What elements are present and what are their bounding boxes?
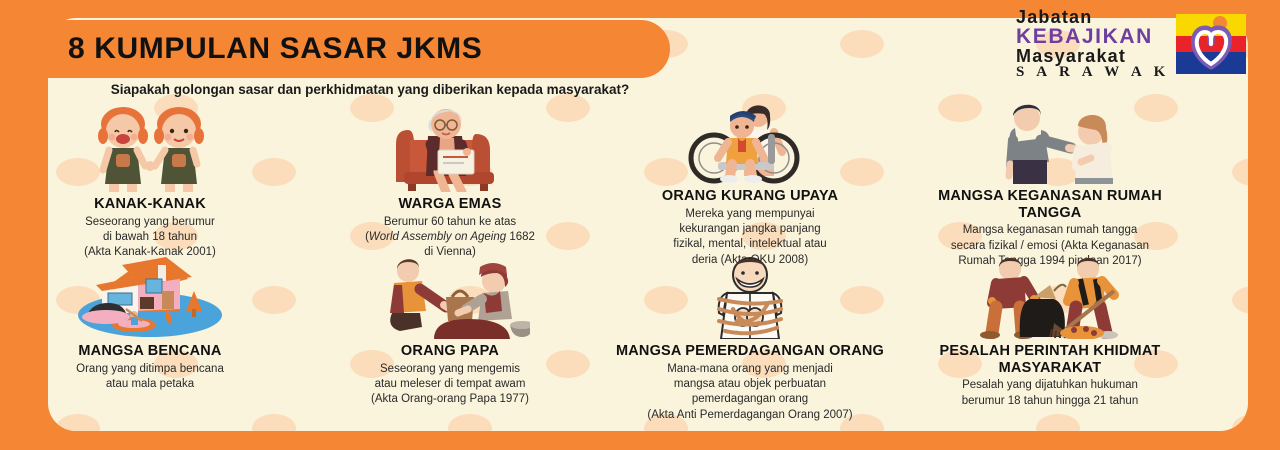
infographic-poster: 8 KUMPULAN SASAR JKMS Jabatan KEBAJIKAN … — [0, 0, 1280, 450]
card-description: Seseorang yang mengemis atau meleser di … — [371, 362, 529, 408]
community-service-icon — [970, 255, 1130, 339]
desc-line: atau meleser di tempat awam — [371, 377, 529, 392]
desc-line: Orang yang ditimpa bencana — [76, 362, 224, 377]
card-description: Seseorang yang berumur di bawah 18 tahun… — [84, 215, 216, 261]
desc-line: Mangsa keganasan rumah tangga — [951, 223, 1149, 238]
logo-line-jabatan: Jabatan — [1016, 8, 1170, 26]
desc-line: Pesalah yang dijatuhkan hukuman — [962, 378, 1138, 393]
desc-line: (World Assembly on Ageing 1682 — [365, 230, 535, 245]
desc-line: atau mala petaka — [76, 377, 224, 392]
card-orang-kurang-upaya: ORANG KURANG UPAYA Mereka yang mempunyai… — [600, 100, 900, 265]
card-title: ORANG PAPA — [401, 343, 499, 360]
card-title: WARGA EMAS — [399, 196, 502, 213]
card-orang-papa: ORANG PAPA Seseorang yang mengemis atau … — [300, 255, 600, 413]
desc-line: pemerdagangan orang — [647, 392, 852, 407]
desc-line: Seseorang yang berumur — [84, 215, 216, 230]
card-row-bottom: MANGSA BENCANA Orang yang ditimpa bencan… — [0, 255, 1200, 413]
desc-line: kekurangan jangka panjang — [673, 222, 826, 237]
card-mangsa-bencana: MANGSA BENCANA Orang yang ditimpa bencan… — [0, 255, 300, 413]
logo-wordmark: Jabatan KEBAJIKAN Masyarakat S A R A W A… — [1016, 8, 1170, 80]
page-subtitle: Siapakah golongan sasar dan perkhidmatan… — [60, 80, 680, 100]
desc-italic: World Assembly on Ageing — [369, 231, 506, 243]
card-kanak-kanak: KANAK-KANAK Seseorang yang berumur di ba… — [0, 100, 300, 265]
card-description: Orang yang ditimpa bencana atau mala pet… — [76, 362, 224, 393]
flooded-house-icon — [70, 255, 230, 339]
card-title: KANAK-KANAK — [94, 196, 206, 213]
card-description: Berumur 60 tahun ke atas (World Assembly… — [365, 215, 535, 261]
two-children-icon — [75, 100, 225, 192]
wheelchair-user-icon — [686, 100, 814, 184]
card-mangsa-pemerdagangan-orang: MANGSA PEMERDAGANGAN ORANG Mana-mana ora… — [600, 255, 900, 413]
card-title: PESALAH PERINTAH KHIDMAT MASYARAKAT — [908, 343, 1192, 376]
desc-line: fizikal, mental, intelektual atau — [673, 237, 826, 252]
bound-person-icon — [685, 255, 815, 339]
desc-line: mangsa atau objek perbuatan — [647, 377, 852, 392]
card-description: Mana-mana orang yang menjadi mangsa atau… — [647, 362, 852, 423]
card-title: MANGSA PEMERDAGANGAN ORANG — [616, 343, 884, 360]
homeless-aid-icon — [370, 255, 530, 339]
card-warga-emas: WARGA EMAS Berumur 60 tahun ke atas (Wor… — [300, 100, 600, 265]
desc-line: (Akta Anti Pemerdagangan Orang 2007) — [647, 408, 852, 423]
card-description: Pesalah yang dijatuhkan hukuman berumur … — [962, 378, 1138, 409]
card-title: MANGSA KEGANASAN RUMAH TANGGA — [908, 188, 1192, 221]
title-banner: 8 KUMPULAN SASAR JKMS — [0, 20, 670, 78]
logo-line-kebajikan: KEBAJIKAN — [1016, 26, 1170, 47]
desc-line: di bawah 18 tahun — [84, 230, 216, 245]
page-title: 8 KUMPULAN SASAR JKMS — [68, 32, 482, 66]
elderly-woman-armchair-icon — [380, 100, 520, 192]
desc-line: (Akta Orang-orang Papa 1977) — [371, 392, 529, 407]
card-mangsa-keganasan-rumah-tangga: MANGSA KEGANASAN RUMAH TANGGA Mangsa keg… — [900, 100, 1200, 265]
desc-line: Seseorang yang mengemis — [371, 362, 529, 377]
card-title: MANGSA BENCANA — [78, 343, 221, 360]
desc-line: Mereka yang mempunyai — [673, 207, 826, 222]
desc-line: Mana-mana orang yang menjadi — [647, 362, 852, 377]
card-row-top: KANAK-KANAK Seseorang yang berumur di ba… — [0, 100, 1200, 265]
domestic-violence-icon — [975, 100, 1125, 184]
jkm-sarawak-logo: Jabatan KEBAJIKAN Masyarakat S A R A W A… — [1016, 8, 1266, 80]
card-pesalah-perintah-khidmat-masyarakat: PESALAH PERINTAH KHIDMAT MASYARAKAT Pesa… — [900, 255, 1200, 413]
heart-emblem-icon — [1174, 12, 1248, 76]
desc-line: secara fizikal / emosi (Akta Keganasan — [951, 239, 1149, 254]
desc-line: Berumur 60 tahun ke atas — [365, 215, 535, 230]
card-title: ORANG KURANG UPAYA — [662, 188, 838, 205]
desc-line: berumur 18 tahun hingga 21 tahun — [962, 394, 1138, 409]
logo-line-sarawak: S A R A W A K — [1016, 65, 1170, 80]
logo-line-masyarakat: Masyarakat — [1016, 47, 1170, 65]
